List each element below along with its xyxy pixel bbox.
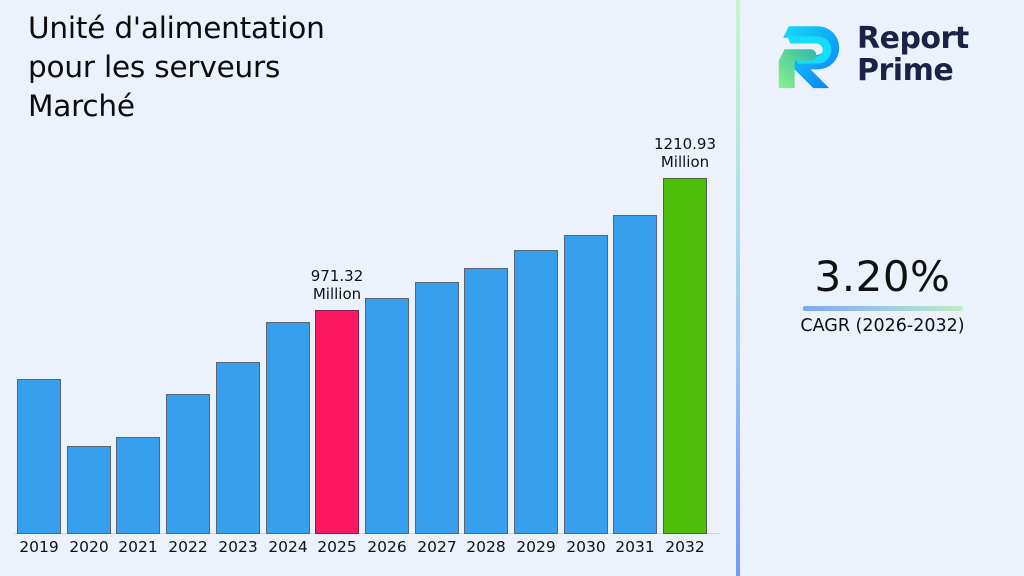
x-axis-tick-2030: 2030 (561, 538, 611, 556)
bar-group: 2020 (67, 0, 111, 576)
bar-group: 2030 (564, 0, 608, 576)
cagr-divider (803, 306, 963, 311)
x-axis-tick-2020: 2020 (64, 538, 114, 556)
bar-2026[interactable] (365, 298, 409, 534)
bar-group: 2026 (365, 0, 409, 576)
bar-value-label-2032: 1210.93 Million (625, 135, 745, 171)
x-axis-tick-2027: 2027 (412, 538, 462, 556)
bar-group: 2023 (216, 0, 260, 576)
report-prime-logo[interactable]: Report Prime (773, 14, 1003, 96)
bar-group: 2021 (116, 0, 160, 576)
x-axis-tick-2026: 2026 (362, 538, 412, 556)
bar-2022[interactable] (166, 394, 210, 534)
x-axis-tick-2023: 2023 (213, 538, 263, 556)
bar-group: 971.32 Million2025 (315, 0, 359, 576)
bar-group: 2029 (514, 0, 558, 576)
panel-divider (736, 0, 740, 576)
bar-group: 2022 (166, 0, 210, 576)
x-axis-tick-2024: 2024 (263, 538, 313, 556)
bar-group: 2027 (415, 0, 459, 576)
bar-2021[interactable] (116, 437, 160, 534)
bar-2019[interactable] (17, 379, 61, 534)
x-axis-tick-2025: 2025 (312, 538, 362, 556)
x-axis-tick-2028: 2028 (461, 538, 511, 556)
bar-2025[interactable] (315, 310, 359, 534)
report-prime-r-monogram-icon (773, 19, 845, 91)
x-axis-tick-2019: 2019 (14, 538, 64, 556)
bar-group: 2019 (17, 0, 61, 576)
x-axis-tick-2031: 2031 (610, 538, 660, 556)
bar-2027[interactable] (415, 282, 459, 534)
bar-2023[interactable] (216, 362, 260, 534)
x-axis-tick-2022: 2022 (163, 538, 213, 556)
cagr-block: 3.20% CAGR (2026-2032) (741, 252, 1024, 338)
x-axis-tick-2021: 2021 (113, 538, 163, 556)
bar-2029[interactable] (514, 250, 558, 534)
bar-group: 2031 (613, 0, 657, 576)
bar-2030[interactable] (564, 235, 608, 534)
bar-2032[interactable] (663, 178, 707, 534)
logo-wordmark-line2: Prime (857, 55, 969, 87)
chart-panel: Unité d'alimentation pour les serveurs M… (0, 0, 737, 576)
logo-wordmark-line1: Report (857, 23, 969, 55)
bar-2020[interactable] (67, 446, 111, 534)
market-report-infographic: Unité d'alimentation pour les serveurs M… (0, 0, 1024, 576)
bar-chart: 201920202021202220232024971.32 Million20… (0, 0, 737, 576)
bar-2028[interactable] (464, 268, 508, 534)
logo-wordmark: Report Prime (857, 23, 969, 87)
summary-panel: Report Prime 3.20% CAGR (2026-2032) (741, 0, 1024, 576)
cagr-label: CAGR (2026-2032) (741, 314, 1024, 338)
bar-group: 2028 (464, 0, 508, 576)
bar-2031[interactable] (613, 215, 657, 534)
bar-group: 1210.93 Million2032 (663, 0, 707, 576)
bar-2024[interactable] (266, 322, 310, 534)
x-axis-tick-2032: 2032 (660, 538, 710, 556)
x-axis-tick-2029: 2029 (511, 538, 561, 556)
cagr-value: 3.20% (741, 252, 1024, 302)
